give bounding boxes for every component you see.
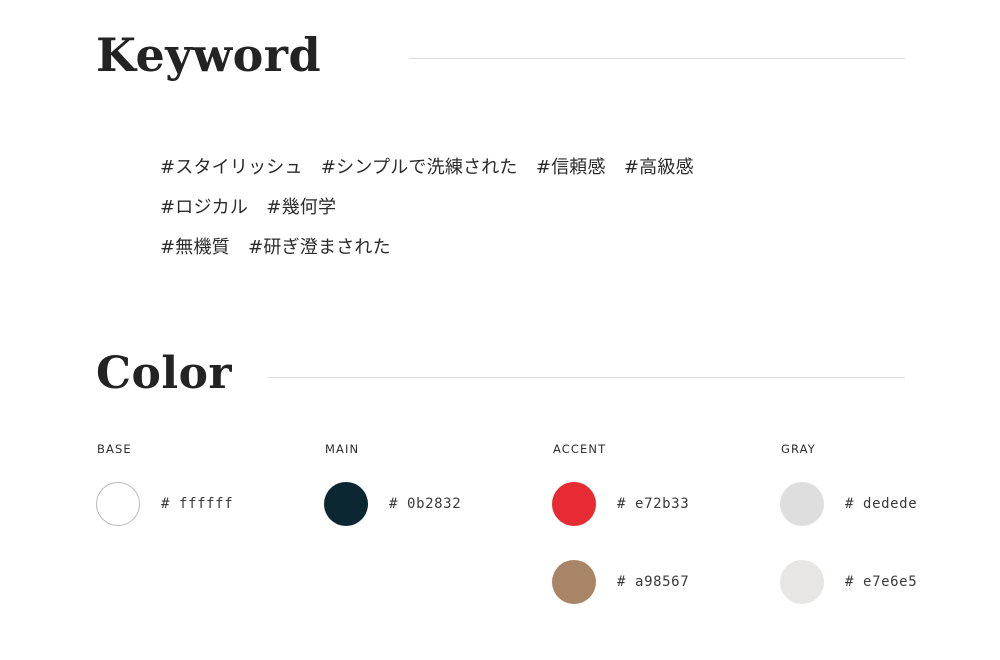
color-column-label: ACCENT [553,444,780,456]
style-guide-page: Keyword #スタイリッシュ #シンプルで洗練された #信頼感 #高級感 #… [0,0,1000,660]
color-palette: BASE # ffffff MAIN # 0b2832 ACCENT # e72… [96,444,936,604]
keyword-list: #スタイリッシュ #シンプルで洗練された #信頼感 #高級感 #ロジカル #幾何… [160,148,694,268]
color-swatch-dot[interactable] [780,560,824,604]
color-swatch-dot[interactable] [780,482,824,526]
keyword-line: #ロジカル #幾何学 [160,188,694,228]
color-swatch-dot[interactable] [324,482,368,526]
color-swatch-dot[interactable] [552,482,596,526]
color-column-label: BASE [97,444,324,456]
color-section-header: Color [96,352,905,396]
color-swatch-row[interactable]: # e7e6e5 [780,560,1000,604]
color-swatch-dot[interactable] [96,482,140,526]
color-header-divider [268,377,905,378]
color-swatch-hex-label: # e7e6e5 [845,574,917,590]
color-swatch-row[interactable]: # 0b2832 [324,482,552,526]
color-swatch-row[interactable]: # ffffff [96,482,324,526]
color-column-accent: ACCENT # e72b33 # a98567 [552,444,780,604]
color-column-gray: GRAY # dedede # e7e6e5 [780,444,1000,604]
color-swatch-dot[interactable] [552,560,596,604]
color-column-base: BASE # ffffff [96,444,324,604]
keyword-section-title: Keyword [96,32,321,78]
color-swatch-hex-label: # 0b2832 [389,496,461,512]
color-swatch-row[interactable]: # dedede [780,482,1000,526]
keyword-header-divider [409,58,905,59]
color-column-label: GRAY [781,444,1000,456]
keyword-line: #スタイリッシュ #シンプルで洗練された #信頼感 #高級感 [160,148,694,188]
keyword-section-header: Keyword [96,32,905,78]
keyword-line: #無機質 #研ぎ澄まされた [160,228,694,268]
color-section-title: Color [96,352,232,396]
color-swatch-hex-label: # e72b33 [617,496,689,512]
color-swatch-hex-label: # a98567 [617,574,689,590]
color-swatch-row[interactable]: # a98567 [552,560,780,604]
color-column-main: MAIN # 0b2832 [324,444,552,604]
color-swatch-hex-label: # ffffff [161,496,233,512]
color-column-label: MAIN [325,444,552,456]
color-swatch-hex-label: # dedede [845,496,917,512]
color-swatch-row[interactable]: # e72b33 [552,482,780,526]
